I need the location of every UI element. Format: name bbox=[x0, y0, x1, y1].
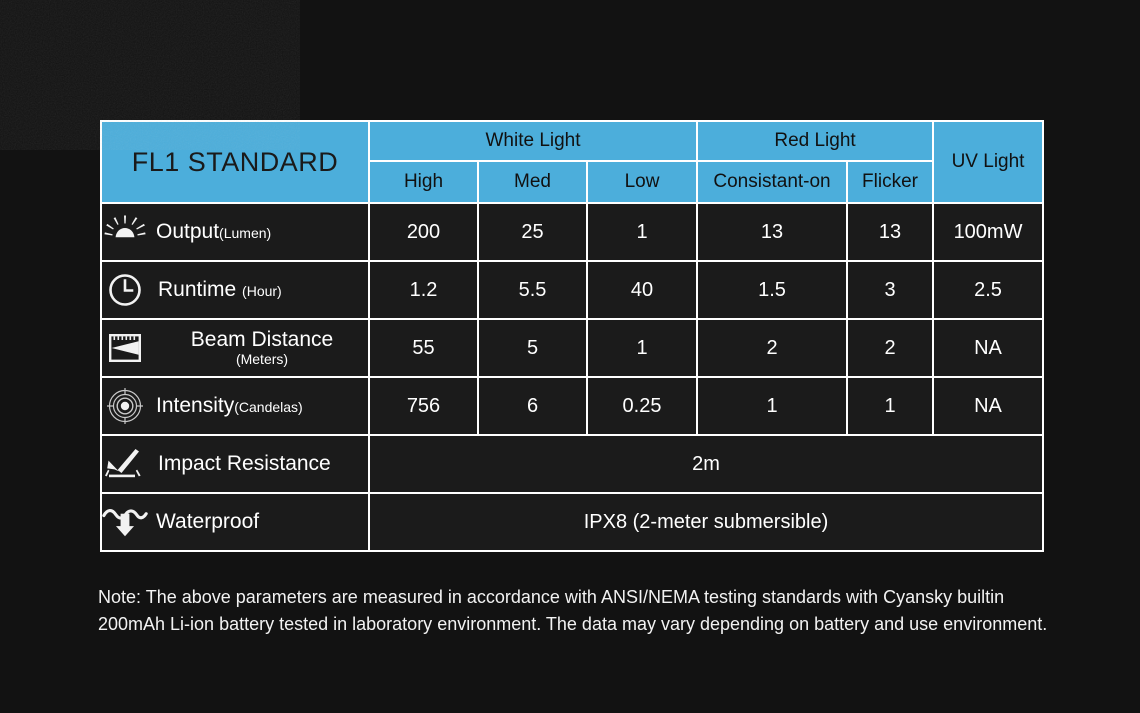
footnote-text: Note: The above parameters are measured … bbox=[98, 584, 1048, 639]
row-label-text: Waterproof bbox=[156, 511, 259, 534]
row-label-unit: (Meters) bbox=[156, 352, 368, 367]
cell-beam-distance-low: 1 bbox=[587, 319, 697, 377]
clock-icon bbox=[102, 269, 148, 311]
table-row-waterproof: Waterproof IPX8 (2-meter submersible) bbox=[101, 493, 1043, 551]
table-row-impact-resistance: Impact Resistance 2m bbox=[101, 435, 1043, 493]
row-label-text: Intensity(Candelas) bbox=[156, 395, 303, 418]
cell-runtime-uv: 2.5 bbox=[933, 261, 1043, 319]
row-label-text: Output(Lumen) bbox=[156, 221, 271, 244]
row-label-unit: (Candelas) bbox=[234, 399, 302, 415]
row-label-beam-distance: Beam Distance(Meters) bbox=[101, 319, 369, 377]
cell-output-low: 1 bbox=[587, 203, 697, 261]
cell-output-consistant-on: 13 bbox=[697, 203, 847, 261]
row-label-text: Runtime (Hour) bbox=[156, 279, 282, 302]
sub-header-high: High bbox=[369, 161, 478, 203]
table-row-runtime: Runtime (Hour) 1.2 5.5 40 1.5 3 2.5 bbox=[101, 261, 1043, 319]
spec-table-container: FL1 STANDARD White Light Red Light UV Li… bbox=[100, 120, 1042, 552]
sub-header-med: Med bbox=[478, 161, 587, 203]
cell-runtime-low: 40 bbox=[587, 261, 697, 319]
row-label-main: Impact Resistance bbox=[158, 452, 331, 475]
cell-output-med: 25 bbox=[478, 203, 587, 261]
cell-output-high: 200 bbox=[369, 203, 478, 261]
cell-output-uv: 100mW bbox=[933, 203, 1043, 261]
sunburst-icon bbox=[102, 211, 148, 253]
row-label-impact-resistance: Impact Resistance bbox=[101, 435, 369, 493]
page-title: FL1 STANDARD bbox=[101, 121, 369, 203]
ruler-beam-icon bbox=[102, 327, 148, 369]
cell-intensity-high: 756 bbox=[369, 377, 478, 435]
cell-output-flicker: 13 bbox=[847, 203, 933, 261]
sub-header-flicker: Flicker bbox=[847, 161, 933, 203]
cell-beam-distance-consistant-on: 2 bbox=[697, 319, 847, 377]
table-row-beam-distance: Beam Distance(Meters) 55 5 1 2 2 NA bbox=[101, 319, 1043, 377]
row-label-main: Runtime bbox=[158, 278, 236, 301]
waterproof-icon bbox=[102, 501, 148, 543]
group-header-red-light: Red Light bbox=[697, 121, 933, 161]
cell-beam-distance-uv: NA bbox=[933, 319, 1043, 377]
row-label-main: Beam Distance bbox=[191, 328, 333, 351]
cell-intensity-consistant-on: 1 bbox=[697, 377, 847, 435]
cell-beam-distance-high: 55 bbox=[369, 319, 478, 377]
cell-impact-resistance-value: 2m bbox=[369, 435, 1043, 493]
row-label-unit: (Lumen) bbox=[219, 225, 271, 241]
row-label-text: Beam Distance(Meters) bbox=[156, 329, 368, 367]
cell-waterproof-value: IPX8 (2-meter submersible) bbox=[369, 493, 1043, 551]
row-label-main: Intensity bbox=[156, 394, 234, 417]
row-label-main: Output bbox=[156, 220, 219, 243]
row-label-intensity: Intensity(Candelas) bbox=[101, 377, 369, 435]
row-label-main: Waterproof bbox=[156, 510, 259, 533]
sub-header-consistant-on: Consistant-on bbox=[697, 161, 847, 203]
cell-intensity-flicker: 1 bbox=[847, 377, 933, 435]
row-label-runtime: Runtime (Hour) bbox=[101, 261, 369, 319]
cell-intensity-low: 0.25 bbox=[587, 377, 697, 435]
cell-intensity-uv: NA bbox=[933, 377, 1043, 435]
row-label-output: Output(Lumen) bbox=[101, 203, 369, 261]
table-row-intensity: Intensity(Candelas) 756 6 0.25 1 1 NA bbox=[101, 377, 1043, 435]
group-header-white-light: White Light bbox=[369, 121, 697, 161]
cell-beam-distance-flicker: 2 bbox=[847, 319, 933, 377]
group-header-uv-light: UV Light bbox=[933, 121, 1043, 203]
table-row-output: Output(Lumen) 200 25 1 13 13 100mW bbox=[101, 203, 1043, 261]
cell-beam-distance-med: 5 bbox=[478, 319, 587, 377]
target-icon bbox=[102, 385, 148, 427]
cell-runtime-flicker: 3 bbox=[847, 261, 933, 319]
impact-icon bbox=[102, 443, 148, 485]
cell-runtime-consistant-on: 1.5 bbox=[697, 261, 847, 319]
table-header-row-groups: FL1 STANDARD White Light Red Light UV Li… bbox=[101, 121, 1043, 161]
row-label-text: Impact Resistance bbox=[156, 453, 331, 476]
fl1-standard-spec-table: FL1 STANDARD White Light Red Light UV Li… bbox=[100, 120, 1044, 552]
cell-runtime-high: 1.2 bbox=[369, 261, 478, 319]
cell-intensity-med: 6 bbox=[478, 377, 587, 435]
row-label-unit: (Hour) bbox=[242, 283, 282, 299]
row-label-waterproof: Waterproof bbox=[101, 493, 369, 551]
sub-header-low: Low bbox=[587, 161, 697, 203]
cell-runtime-med: 5.5 bbox=[478, 261, 587, 319]
